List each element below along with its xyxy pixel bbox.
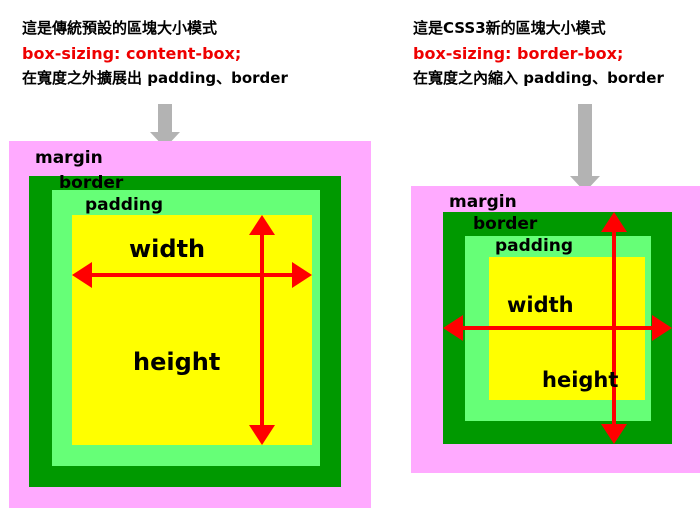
arrow-head-right: [292, 262, 312, 288]
arrow-head-left: [72, 262, 92, 288]
arrow-head-bottom: [249, 425, 275, 445]
caption-line-2-code: box-sizing: border-box;: [413, 41, 664, 66]
down-arrow-icon: [570, 104, 600, 192]
height-arrow: [601, 212, 627, 444]
arrow-head-left: [443, 315, 463, 341]
height-arrow: [249, 215, 275, 445]
arrow-line: [260, 227, 264, 433]
arrow-head-top: [601, 212, 627, 232]
arrow-head-top: [249, 215, 275, 235]
caption-line-1: 這是傳統預設的區塊大小模式: [22, 16, 288, 41]
height-label: height: [542, 370, 618, 391]
arrow-shaft: [158, 104, 172, 132]
box-model-content-box: margin border padding width height: [9, 141, 371, 508]
border-label: border: [473, 216, 537, 233]
width-label: width: [129, 237, 205, 261]
caption-line-3: 在寬度之內縮入 padding、border: [413, 66, 664, 91]
width-arrow: [72, 262, 312, 288]
margin-label: margin: [35, 150, 103, 167]
caption-line-2-code: box-sizing: content-box;: [22, 41, 288, 66]
padding-label: padding: [85, 197, 163, 214]
caption-content-box: 這是傳統預設的區塊大小模式 box-sizing: content-box; 在…: [22, 16, 288, 91]
caption-line-3: 在寬度之外擴展出 padding、border: [22, 66, 288, 91]
box-model-border-box: margin border padding width height: [411, 186, 700, 473]
arrow-shaft: [578, 104, 592, 176]
arrow-head-right: [652, 315, 672, 341]
width-arrow: [443, 315, 672, 341]
width-label: width: [507, 295, 574, 316]
margin-label: margin: [449, 194, 517, 211]
height-label: height: [133, 350, 220, 374]
arrow-head-bottom: [601, 424, 627, 444]
caption-border-box: 這是CSS3新的區塊大小模式 box-sizing: border-box; 在…: [413, 16, 664, 91]
diagram-canvas: 這是傳統預設的區塊大小模式 box-sizing: content-box; 在…: [0, 0, 700, 514]
arrow-line: [455, 326, 660, 330]
border-label: border: [59, 175, 123, 192]
caption-line-1: 這是CSS3新的區塊大小模式: [413, 16, 664, 41]
padding-label: padding: [495, 238, 573, 255]
arrow-line: [612, 224, 616, 432]
